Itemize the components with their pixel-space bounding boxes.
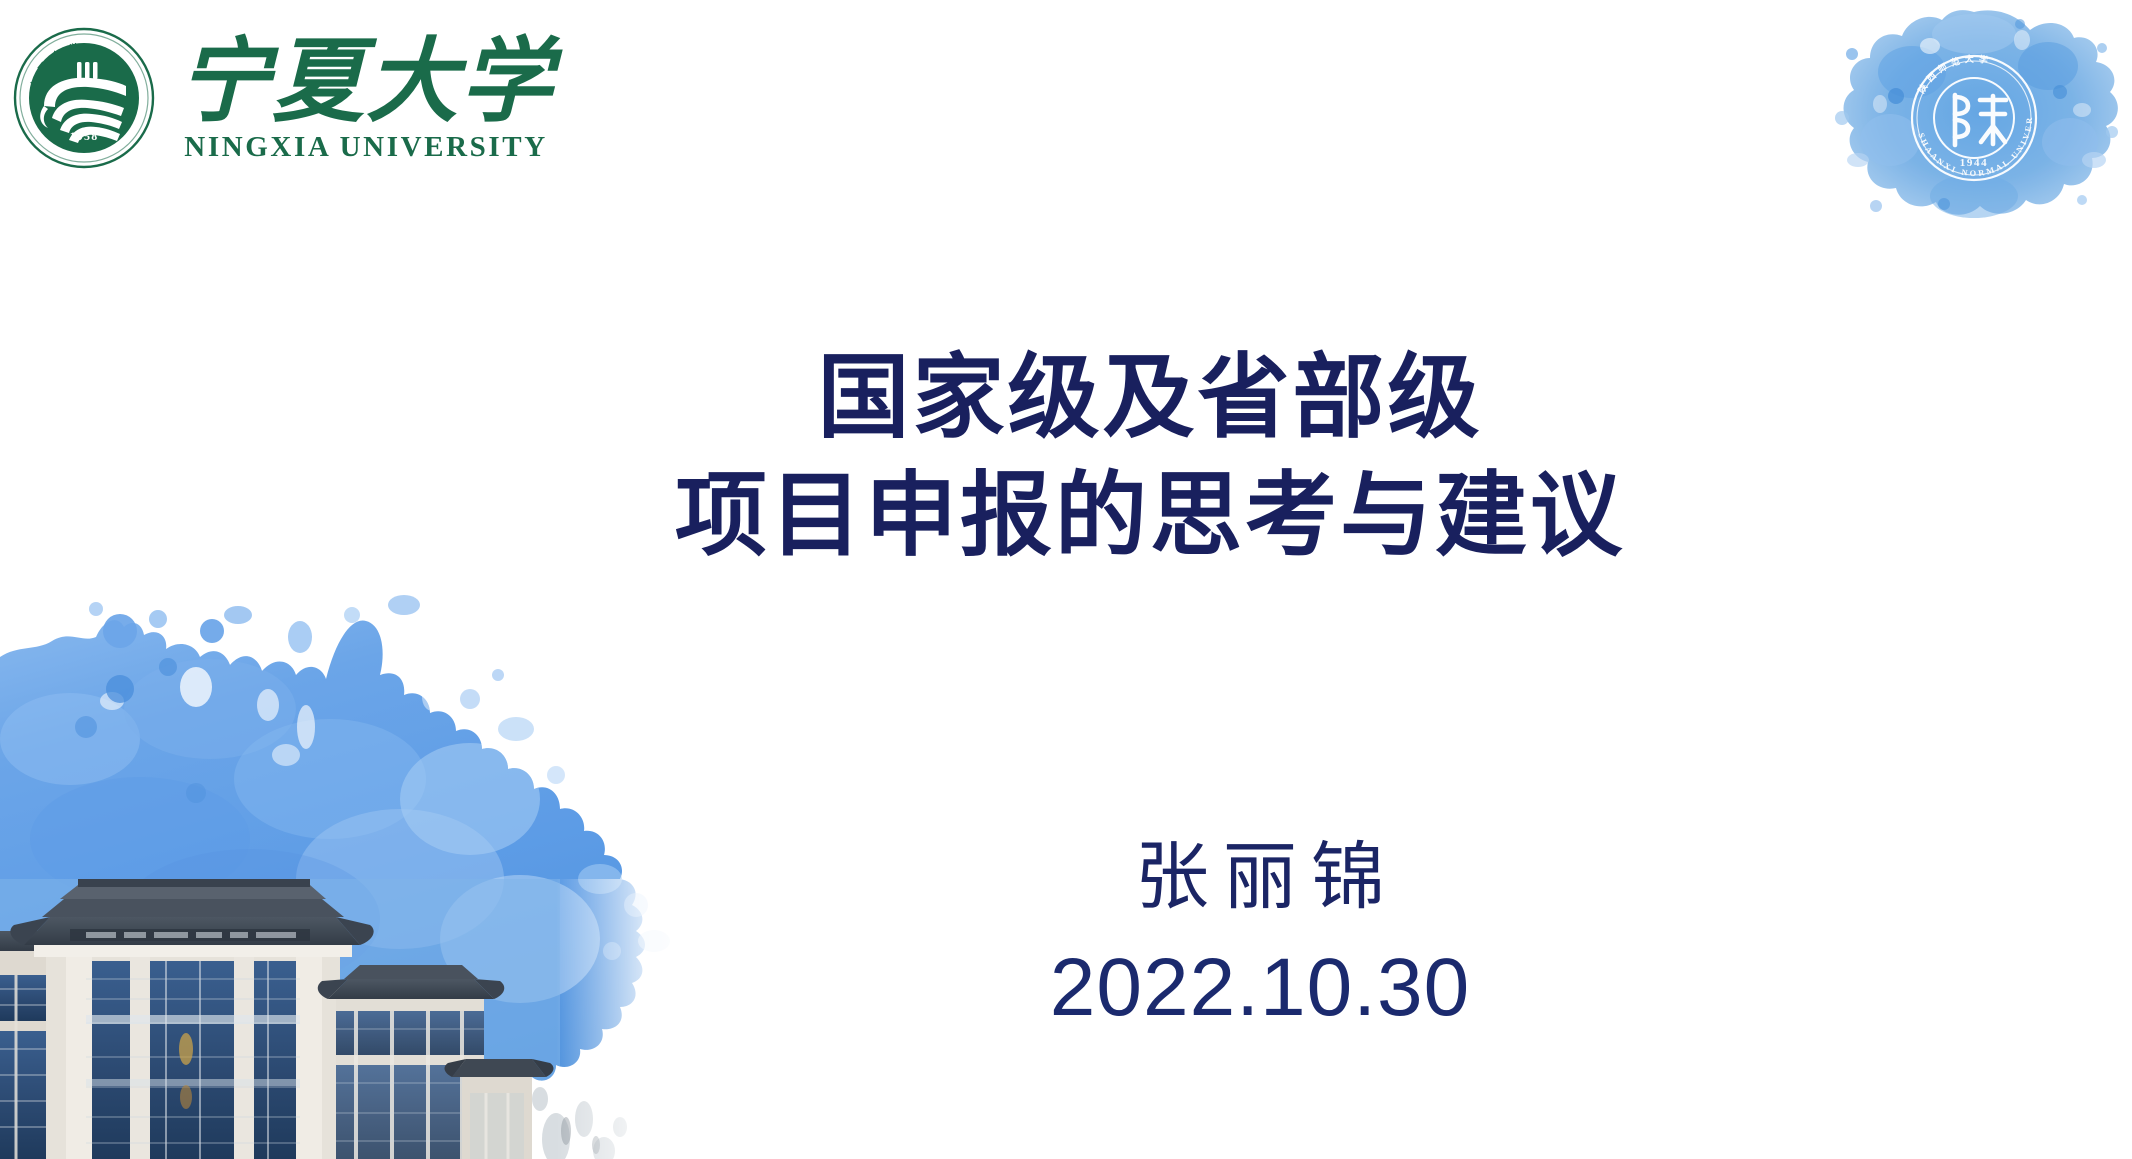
author-name: 张丽锦 — [900, 838, 1620, 919]
svg-text:1958: 1958 — [70, 129, 99, 143]
presentation-slide: NINGXIA UNIVERSITY 宁 夏 大 学 1958 — [0, 0, 2132, 1159]
slide-title: 国家级及省部级 项目申报的思考与建议 — [560, 340, 1740, 576]
ningxia-university-name-en: NINGXIA UNIVERSITY — [184, 131, 547, 164]
ningxia-university-wordmark: 宁夏大学 NINGXIA UNIVERSITY — [178, 32, 554, 163]
presentation-date: 2022.10.30 — [900, 945, 1620, 1031]
slide-title-line-2: 项目申报的思考与建议 — [560, 458, 1740, 576]
slide-title-line-1: 国家级及省部级 — [560, 340, 1740, 458]
watercolor-splash — [0, 579, 720, 1159]
splash-droplets — [89, 595, 670, 960]
shaanxi-normal-university-logo: 陕西师范大学 SHAANXI NORMAL UNIVERSITY 1944 — [1824, 0, 2124, 228]
author-block: 张丽锦 2022.10.30 — [900, 838, 1620, 1031]
svg-text:1944: 1944 — [1960, 157, 1988, 169]
ningxia-university-name-cn: 宁夏大学 — [178, 38, 554, 126]
campus-building-photo — [0, 879, 720, 1159]
ningxia-university-logo: NINGXIA UNIVERSITY 宁 夏 大 学 1958 — [8, 18, 508, 178]
snnu-splash-backdrop — [1835, 10, 2118, 218]
ningxia-university-emblem-icon: NINGXIA UNIVERSITY 宁 夏 大 学 1958 — [8, 22, 160, 174]
campus-artwork — [0, 579, 720, 1159]
